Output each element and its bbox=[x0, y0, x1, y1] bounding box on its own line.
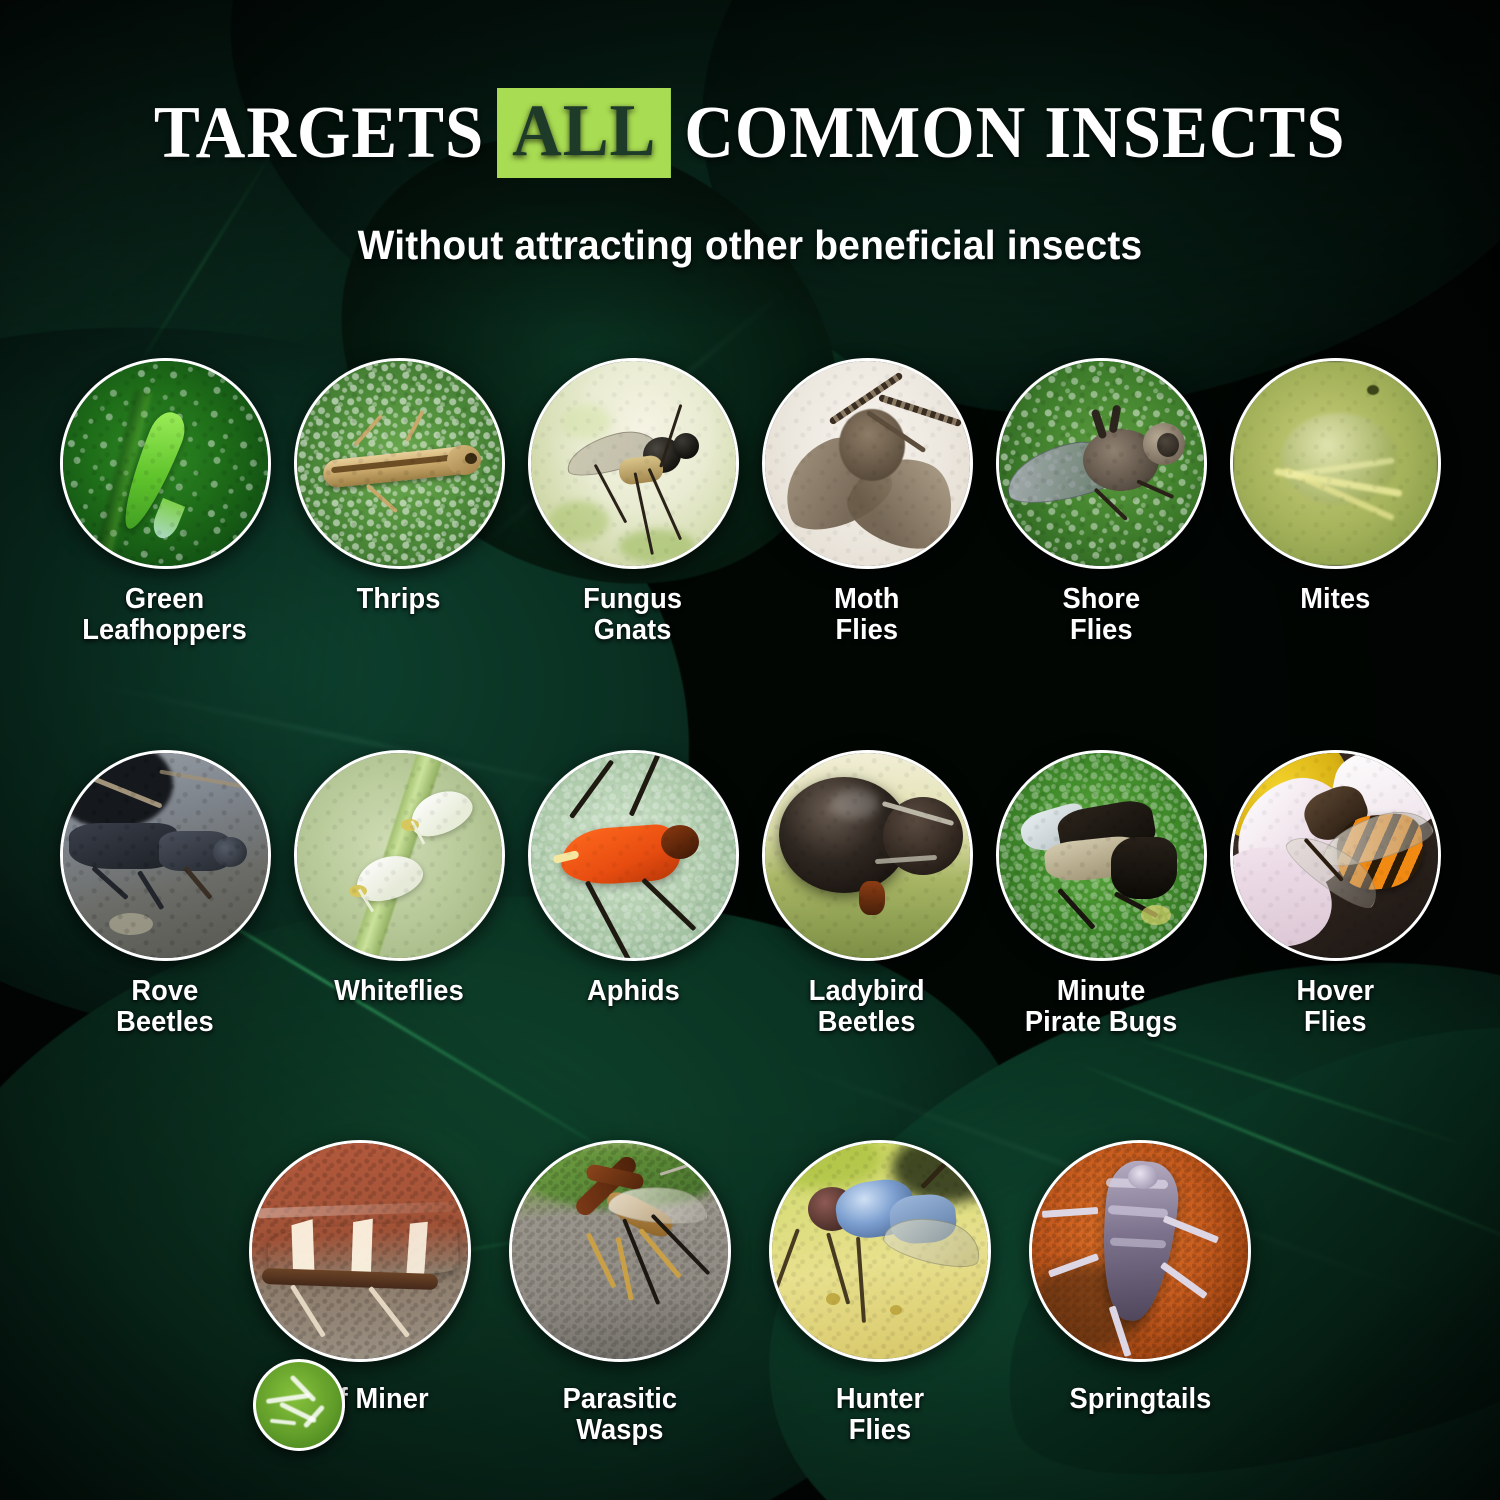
headline: TARGETSALLCOMMON INSECTS bbox=[0, 88, 1500, 178]
insect-label: Moth Flies bbox=[834, 584, 899, 647]
insect-cell-hover-flies[interactable]: Hover Flies bbox=[1229, 750, 1441, 1039]
insect-label: Hover Flies bbox=[1296, 976, 1374, 1039]
insect-label: Aphids bbox=[587, 976, 680, 1007]
whitefly-photo bbox=[294, 750, 505, 961]
insect-cell-rove-beetles[interactable]: Rove Beetles bbox=[59, 750, 271, 1039]
moth-fly-photo bbox=[762, 358, 973, 569]
aphid-photo bbox=[528, 750, 739, 961]
insect-cell-ladybird-beetles[interactable]: Ladybird Beetles bbox=[761, 750, 973, 1039]
hover-fly-photo bbox=[1230, 750, 1441, 961]
insect-cell-springtails[interactable]: Springtails bbox=[1025, 1140, 1255, 1447]
insect-cell-whiteflies[interactable]: Whiteflies bbox=[293, 750, 505, 1039]
headline-highlight-all: ALL bbox=[498, 88, 672, 178]
insect-cell-leaf-miner[interactable]: Leaf Miner bbox=[245, 1140, 475, 1447]
insect-label: Rove Beetles bbox=[116, 976, 214, 1039]
hunter-fly-photo bbox=[769, 1140, 991, 1362]
poster: TARGETSALLCOMMON INSECTS Without attract… bbox=[0, 0, 1500, 1500]
fungus-gnat-photo bbox=[528, 358, 739, 569]
subheadline: Without attracting other beneficial inse… bbox=[38, 222, 1463, 269]
insect-label: Springtails bbox=[1069, 1384, 1211, 1415]
insect-label: Mites bbox=[1300, 584, 1370, 615]
thrips-photo bbox=[294, 358, 505, 569]
green-leafhopper-photo bbox=[60, 358, 271, 569]
insect-cell-parasitic-wasps[interactable]: Parasitic Wasps bbox=[505, 1140, 735, 1447]
insect-label: Parasitic Wasps bbox=[563, 1384, 678, 1447]
insect-cell-mites[interactable]: Mites bbox=[1229, 358, 1441, 647]
parasitic-wasp-photo bbox=[509, 1140, 731, 1362]
insect-label: Fungus Gnats bbox=[584, 584, 683, 647]
insect-label: Whiteflies bbox=[334, 976, 464, 1007]
leaf-miner-damage-inset bbox=[253, 1359, 345, 1451]
springtail-photo bbox=[1029, 1140, 1251, 1362]
insect-label: Shore Flies bbox=[1062, 584, 1140, 647]
insect-label: Thrips bbox=[357, 584, 441, 615]
headline-part-1: TARGETS bbox=[154, 96, 484, 170]
headline-part-2: COMMON INSECTS bbox=[685, 96, 1346, 170]
insect-row-3: Leaf Miner Paras bbox=[0, 1140, 1500, 1447]
insect-cell-aphids[interactable]: Aphids bbox=[527, 750, 739, 1039]
insect-row-2: Rove Beetles Whiteflies bbox=[0, 750, 1500, 1039]
insect-cell-green-leafhoppers[interactable]: Green Leafhoppers bbox=[59, 358, 271, 647]
mite-photo bbox=[1230, 358, 1441, 569]
insect-label: Hunter Flies bbox=[836, 1384, 924, 1447]
leaf-miner-photo bbox=[249, 1140, 471, 1362]
insect-cell-thrips[interactable]: Thrips bbox=[293, 358, 505, 647]
insect-label: Minute Pirate Bugs bbox=[1025, 976, 1178, 1039]
insect-cell-shore-flies[interactable]: Shore Flies bbox=[995, 358, 1207, 647]
insect-cell-moth-flies[interactable]: Moth Flies bbox=[761, 358, 973, 647]
minute-pirate-bug-photo bbox=[996, 750, 1207, 961]
insect-cell-hunter-flies[interactable]: Hunter Flies bbox=[765, 1140, 995, 1447]
insect-cell-fungus-gnats[interactable]: Fungus Gnats bbox=[527, 358, 739, 647]
insect-row-1: Green Leafhoppers Thrips bbox=[0, 358, 1500, 647]
shore-fly-photo bbox=[996, 358, 1207, 569]
ladybird-beetle-photo bbox=[762, 750, 973, 961]
rove-beetle-photo bbox=[60, 750, 271, 961]
insect-label: Green Leafhoppers bbox=[83, 584, 248, 647]
insect-cell-minute-pirate-bugs[interactable]: Minute Pirate Bugs bbox=[995, 750, 1207, 1039]
insect-label: Ladybird Beetles bbox=[809, 976, 925, 1039]
